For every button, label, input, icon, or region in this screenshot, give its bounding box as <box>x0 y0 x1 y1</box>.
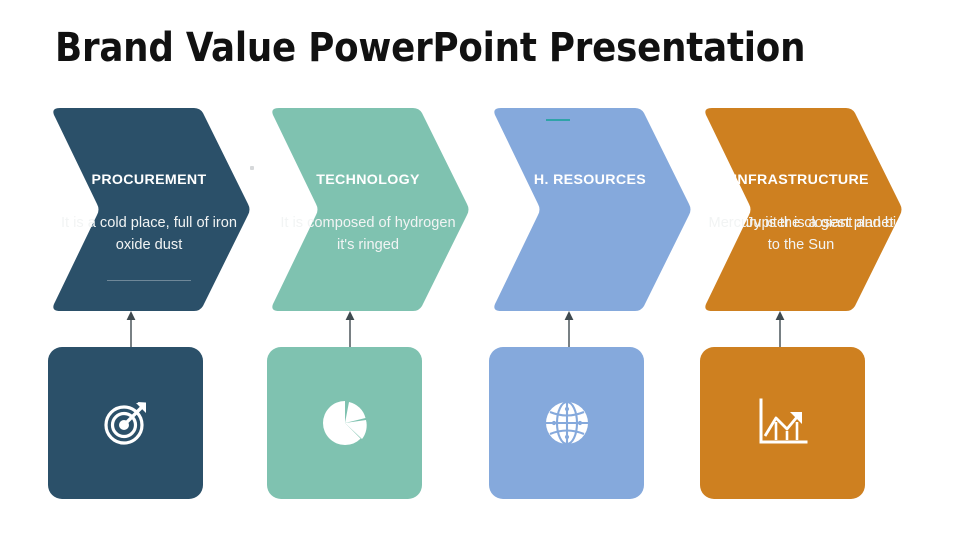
step-chevron-h-resources[interactable]: H. RESOURCES <box>489 108 691 311</box>
chevron-title: TECHNOLOGY <box>267 172 469 188</box>
globe-icon <box>489 347 644 499</box>
icon-card-technology[interactable] <box>267 347 422 499</box>
icon-card-procurement[interactable] <box>48 347 203 499</box>
chevron-title: PROCUREMENT <box>48 172 250 188</box>
step-chevron-procurement[interactable]: PROCUREMENT It is a cold place, full of … <box>48 108 250 311</box>
chevron-body-text: It is a cold place, full of iron oxide d… <box>56 213 242 256</box>
icon-card-h-resources[interactable] <box>489 347 644 499</box>
stray-artifact-dot <box>250 166 254 170</box>
page-title: Brand Value PowerPoint Presentation <box>55 22 906 76</box>
chevron-accent-tick <box>546 119 570 121</box>
chevron-shape <box>489 108 691 311</box>
chevron-shape <box>267 108 469 311</box>
connector-arrow-technology <box>343 311 357 347</box>
target-icon <box>48 347 203 499</box>
step-chevron-infrastructure[interactable]: INFRASTRUCTURE Mercury is the closest pl… <box>700 108 902 311</box>
chevron-title: H. RESOURCES <box>489 172 691 188</box>
connector-arrow-h-resources <box>562 311 576 347</box>
growth-chart-icon <box>700 347 865 499</box>
slide-canvas: Brand Value PowerPoint Presentation PROC… <box>0 0 960 540</box>
chevron-body-text: It is composed of hydrogen it's ringed <box>275 213 461 256</box>
connector-arrow-procurement <box>124 311 138 347</box>
step-chevron-technology[interactable]: TECHNOLOGY It is composed of hydrogen it… <box>267 108 469 311</box>
chevron-overlay-text: Jupiter is a giant and biggest <box>746 213 902 235</box>
pie-chart-icon <box>267 347 422 499</box>
chevron-underline <box>107 280 191 281</box>
connector-arrow-infrastructure <box>773 311 787 347</box>
icon-card-infrastructure[interactable] <box>700 347 865 499</box>
